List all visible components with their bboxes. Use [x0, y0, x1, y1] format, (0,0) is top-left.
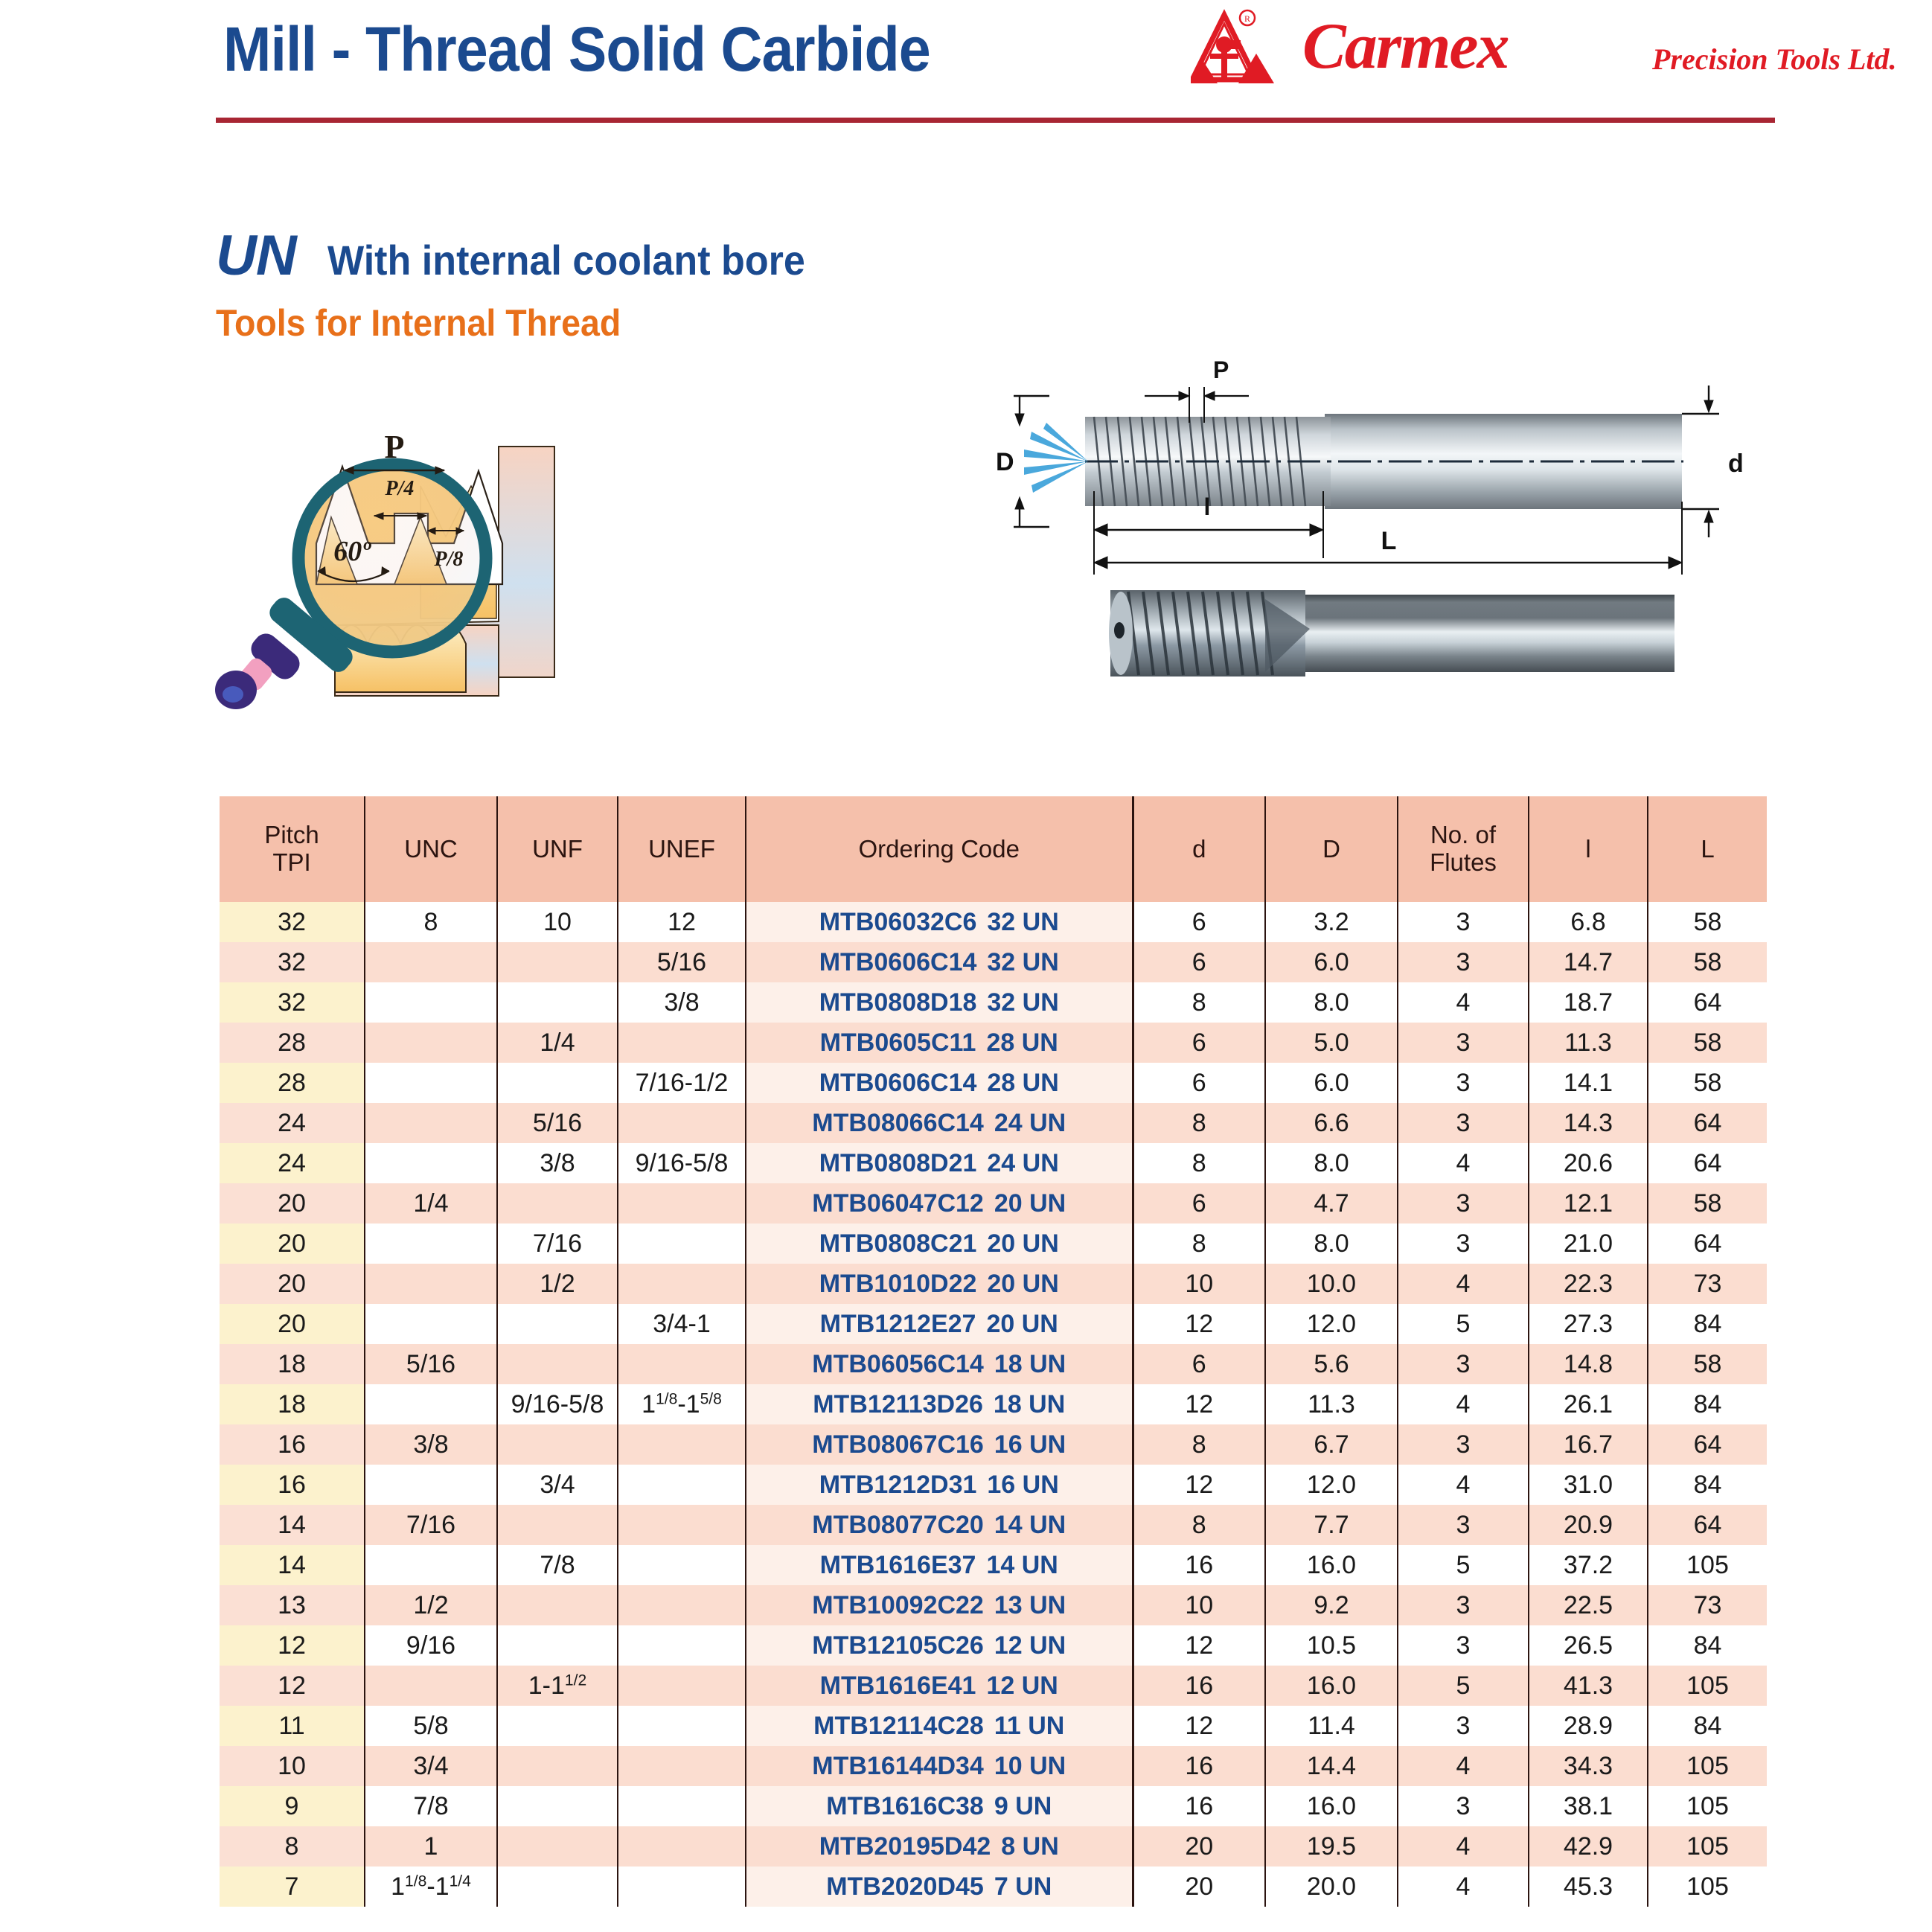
cell-unef	[618, 1625, 746, 1666]
cell-unef	[618, 1183, 746, 1224]
cell-pitch: 18	[220, 1344, 365, 1384]
cell-ordering-code: MTB1010D2220 UN	[746, 1264, 1133, 1304]
ordering-code-suffix: 28 UN	[987, 1069, 1058, 1098]
cell-unc	[365, 1023, 497, 1063]
cell-l: 11.3	[1529, 1023, 1648, 1063]
cell-pitch: 14	[220, 1545, 365, 1585]
cell-ordering-code: MTB08077C2014 UN	[746, 1505, 1133, 1545]
label-P8: P/8	[434, 548, 464, 571]
ordering-code-main: MTB1616C38	[826, 1792, 984, 1821]
cell-unc	[365, 1103, 497, 1143]
cell-ordering-code: MTB0808D2124 UN	[746, 1143, 1133, 1183]
ordering-code-suffix: 12 UN	[986, 1672, 1058, 1701]
cell-flutes: 4	[1398, 982, 1529, 1023]
cell-unef	[618, 1545, 746, 1585]
cell-unef	[618, 1103, 746, 1143]
section-subtitle: UN With internal coolant bore Tools for …	[216, 223, 841, 345]
cell-l: 12.1	[1529, 1183, 1648, 1224]
coolant-spray-icon	[1024, 423, 1088, 493]
cell-D-major: 16.0	[1265, 1666, 1398, 1706]
cell-unef	[618, 1826, 746, 1867]
cell-unc: 11/8-11/4	[365, 1867, 497, 1907]
cell-ordering-code: MTB06032C632 UN	[746, 902, 1133, 942]
cell-flutes: 4	[1398, 1465, 1529, 1505]
ordering-code-main: MTB10092C22	[812, 1591, 984, 1620]
cell-D-major: 6.0	[1265, 942, 1398, 982]
ordering-code-main: MTB16144D34	[812, 1752, 984, 1781]
ordering-code-suffix: 20 UN	[986, 1310, 1058, 1339]
cell-unf	[497, 982, 618, 1023]
ordering-code-suffix: 18 UN	[994, 1350, 1066, 1379]
page-header: Mill - Thread Solid Carbide R Carmex Pre…	[0, 0, 1932, 134]
cell-unef: 9/16-5/8	[618, 1143, 746, 1183]
page-title: Mill - Thread Solid Carbide	[223, 13, 930, 86]
label-P: P	[385, 429, 405, 465]
cell-ordering-code: MTB1616C389 UN	[746, 1786, 1133, 1826]
cell-ordering-code: MTB1616E3714 UN	[746, 1545, 1133, 1585]
tool-dimension-drawing: D d P l L	[975, 342, 1794, 580]
thread-standard-code: UN	[216, 223, 296, 288]
cell-d: 6	[1133, 1023, 1265, 1063]
cell-L: 84	[1648, 1384, 1767, 1424]
cell-L: 64	[1648, 1224, 1767, 1264]
cell-flutes: 3	[1398, 1625, 1529, 1666]
cell-flutes: 4	[1398, 1746, 1529, 1786]
cell-D-major: 4.7	[1265, 1183, 1398, 1224]
cell-d: 8	[1133, 1505, 1265, 1545]
cell-unef: 5/16	[618, 942, 746, 982]
cell-unf	[497, 1505, 618, 1545]
cell-unef	[618, 1746, 746, 1786]
cell-flutes: 4	[1398, 1384, 1529, 1424]
cell-d: 10	[1133, 1585, 1265, 1625]
dimension-d: d	[1682, 386, 1744, 537]
cell-D-major: 3.2	[1265, 902, 1398, 942]
cell-unc	[365, 1264, 497, 1304]
cell-d: 16	[1133, 1666, 1265, 1706]
cell-ordering-code: MTB1212E2720 UN	[746, 1304, 1133, 1344]
dimension-P-tool: P	[1145, 356, 1249, 423]
ordering-code-suffix: 20 UN	[987, 1270, 1058, 1299]
cell-unef: 7/16-1/2	[618, 1063, 746, 1103]
cell-pitch: 20	[220, 1224, 365, 1264]
cell-l: 21.0	[1529, 1224, 1648, 1264]
cell-ordering-code: MTB12105C2612 UN	[746, 1625, 1133, 1666]
cell-d: 16	[1133, 1786, 1265, 1826]
cell-L: 58	[1648, 1063, 1767, 1103]
cell-l: 20.9	[1529, 1505, 1648, 1545]
table-row: 3281012MTB06032C632 UN63.236.858	[220, 902, 1767, 942]
ordering-code-suffix: 28 UN	[986, 1029, 1058, 1058]
cell-ordering-code: MTB06047C1220 UN	[746, 1183, 1133, 1224]
cell-d: 6	[1133, 1344, 1265, 1384]
cell-unc: 3/8	[365, 1424, 497, 1465]
cell-d: 8	[1133, 982, 1265, 1023]
table-row: 203/4-1MTB1212E2720 UN1212.0527.384	[220, 1304, 1767, 1344]
cell-l: 22.3	[1529, 1264, 1648, 1304]
cell-flutes: 3	[1398, 902, 1529, 942]
cell-D-major: 5.0	[1265, 1023, 1398, 1063]
cell-unef	[618, 1344, 746, 1384]
cell-L: 58	[1648, 1344, 1767, 1384]
cell-l: 18.7	[1529, 982, 1648, 1023]
cell-ordering-code: MTB08067C1616 UN	[746, 1424, 1133, 1465]
cell-unf	[497, 942, 618, 982]
cell-flutes: 3	[1398, 1585, 1529, 1625]
cell-pitch: 10	[220, 1746, 365, 1786]
cell-unef: 12	[618, 902, 746, 942]
thread-profile-illustration: P P/4 P/8 60º	[205, 398, 636, 718]
cell-L: 58	[1648, 942, 1767, 982]
photo-coolant-hole	[1114, 622, 1125, 639]
cell-pitch: 28	[220, 1023, 365, 1063]
cell-ordering-code: MTB0808C2120 UN	[746, 1224, 1133, 1264]
cell-ordering-code: MTB10092C2213 UN	[746, 1585, 1133, 1625]
svg-text:R: R	[1244, 13, 1250, 24]
table-row: 201/2MTB1010D2220 UN1010.0422.373	[220, 1264, 1767, 1304]
cell-unf: 7/8	[497, 1545, 618, 1585]
cell-d: 12	[1133, 1384, 1265, 1424]
ordering-code-suffix: 24 UN	[994, 1109, 1066, 1138]
ordering-code-suffix: 20 UN	[987, 1229, 1058, 1258]
cell-unef	[618, 1585, 746, 1625]
cell-pitch: 32	[220, 942, 365, 982]
table-row: 163/4MTB1212D3116 UN1212.0431.084	[220, 1465, 1767, 1505]
cell-unf: 7/16	[497, 1224, 618, 1264]
cell-l: 34.3	[1529, 1746, 1648, 1786]
cell-unf	[497, 1625, 618, 1666]
col-header-flutes-line1: No. of	[1398, 822, 1528, 849]
cell-pitch: 12	[220, 1625, 365, 1666]
cell-L: 105	[1648, 1545, 1767, 1585]
col-header-D: D	[1265, 796, 1398, 902]
cell-D-major: 10.5	[1265, 1625, 1398, 1666]
cell-l: 37.2	[1529, 1545, 1648, 1585]
cell-unc: 8	[365, 902, 497, 942]
ordering-code-main: MTB06047C12	[812, 1189, 984, 1218]
cell-unf	[497, 1746, 618, 1786]
ordering-code-main: MTB20195D42	[819, 1832, 991, 1861]
cell-pitch: 24	[220, 1103, 365, 1143]
subtitle-description: With internal coolant bore	[327, 236, 805, 284]
cell-unef	[618, 1264, 746, 1304]
table-row: 131/2MTB10092C2213 UN109.2322.573	[220, 1585, 1767, 1625]
cell-pitch: 32	[220, 902, 365, 942]
table-row: 189/16-5/811/8-15/8MTB12113D2618 UN1211.…	[220, 1384, 1767, 1424]
col-header-flutes: No. of Flutes	[1398, 796, 1529, 902]
table-row: 245/16MTB08066C1424 UN86.6314.364	[220, 1103, 1767, 1143]
cell-d: 10	[1133, 1264, 1265, 1304]
cell-unc	[365, 1224, 497, 1264]
cell-flutes: 3	[1398, 1023, 1529, 1063]
cell-unf	[497, 1424, 618, 1465]
cell-unef	[618, 1867, 746, 1907]
ordering-code-main: MTB06032C6	[819, 908, 977, 937]
cell-unc: 1	[365, 1826, 497, 1867]
cell-unef	[618, 1786, 746, 1826]
cell-D-major: 7.7	[1265, 1505, 1398, 1545]
cell-flutes: 4	[1398, 1867, 1529, 1907]
cell-l: 14.1	[1529, 1063, 1648, 1103]
cell-l: 22.5	[1529, 1585, 1648, 1625]
cell-unc: 5/16	[365, 1344, 497, 1384]
cell-unf	[497, 1063, 618, 1103]
table-row: 115/8MTB12114C2811 UN1211.4328.984	[220, 1706, 1767, 1746]
cell-d: 12	[1133, 1706, 1265, 1746]
cell-pitch: 28	[220, 1063, 365, 1103]
cell-flutes: 3	[1398, 1424, 1529, 1465]
cell-unc: 7/8	[365, 1786, 497, 1826]
cell-L: 105	[1648, 1666, 1767, 1706]
table-row: 163/8MTB08067C1616 UN86.7316.764	[220, 1424, 1767, 1465]
cell-flutes: 3	[1398, 942, 1529, 982]
cell-D-major: 19.5	[1265, 1826, 1398, 1867]
cell-unc	[365, 1143, 497, 1183]
cell-pitch: 20	[220, 1304, 365, 1344]
table-row: 243/89/16-5/8MTB0808D2124 UN88.0420.664	[220, 1143, 1767, 1183]
cell-l: 45.3	[1529, 1867, 1648, 1907]
ordering-code-suffix: 14 UN	[994, 1511, 1066, 1540]
col-header-unf: UNF	[497, 796, 618, 902]
cell-pitch: 14	[220, 1505, 365, 1545]
cell-unef	[618, 1465, 746, 1505]
dimension-L: L	[1094, 502, 1682, 575]
cell-ordering-code: MTB12113D2618 UN	[746, 1384, 1133, 1424]
cell-unef	[618, 1706, 746, 1746]
cell-L: 73	[1648, 1264, 1767, 1304]
ordering-code-main: MTB0606C14	[819, 1069, 977, 1098]
cell-L: 64	[1648, 1505, 1767, 1545]
cell-unc	[365, 1063, 497, 1103]
cell-unc	[365, 1384, 497, 1424]
cell-flutes: 5	[1398, 1304, 1529, 1344]
cell-l: 42.9	[1529, 1826, 1648, 1867]
table-row: 287/16-1/2MTB0606C1428 UN66.0314.158	[220, 1063, 1767, 1103]
cell-flutes: 3	[1398, 1103, 1529, 1143]
table-row: 281/4MTB0605C1128 UN65.0311.358	[220, 1023, 1767, 1063]
brand-name: Carmex	[1302, 9, 1508, 84]
cell-unc: 3/4	[365, 1746, 497, 1786]
cell-pitch: 18	[220, 1384, 365, 1424]
cell-unf: 3/4	[497, 1465, 618, 1505]
ordering-code-suffix: 16 UN	[987, 1471, 1058, 1500]
table-row: 711/8-11/4MTB2020D457 UN2020.0445.3105	[220, 1867, 1767, 1907]
cell-L: 84	[1648, 1465, 1767, 1505]
ordering-code-suffix: 32 UN	[987, 988, 1058, 1017]
ordering-code-main: MTB1616E37	[820, 1551, 976, 1580]
ordering-code-main: MTB0808D18	[819, 988, 977, 1017]
ordering-code-main: MTB08066C14	[812, 1109, 984, 1138]
cell-L: 64	[1648, 1103, 1767, 1143]
brand-logo: R Carmex Precision Tools Ltd.	[1191, 7, 1779, 89]
ordering-code-suffix: 13 UN	[994, 1591, 1066, 1620]
cell-unc: 9/16	[365, 1625, 497, 1666]
cell-ordering-code: MTB0808D1832 UN	[746, 982, 1133, 1023]
cell-L: 84	[1648, 1304, 1767, 1344]
cell-D-major: 8.0	[1265, 982, 1398, 1023]
cell-D-major: 12.0	[1265, 1304, 1398, 1344]
ordering-code-main: MTB0606C14	[819, 948, 977, 977]
label-60deg: 60º	[333, 536, 371, 567]
cell-D-major: 6.6	[1265, 1103, 1398, 1143]
cell-D-major: 12.0	[1265, 1465, 1398, 1505]
cell-pitch: 11	[220, 1706, 365, 1746]
cell-D-major: 10.0	[1265, 1264, 1398, 1304]
cell-D-major: 8.0	[1265, 1224, 1398, 1264]
tool-product-photo	[1079, 569, 1734, 696]
table-header-row: Pitch TPI UNC UNF UNEF Ordering Code d D…	[220, 796, 1767, 902]
cell-ordering-code: MTB12114C2811 UN	[746, 1706, 1133, 1746]
subtitle-application: Tools for Internal Thread	[216, 301, 797, 345]
cell-ordering-code: MTB2020D457 UN	[746, 1867, 1133, 1907]
specification-table: Pitch TPI UNC UNF UNEF Ordering Code d D…	[220, 796, 1767, 1907]
ordering-code-suffix: 12 UN	[994, 1631, 1066, 1660]
col-header-d: d	[1133, 796, 1265, 902]
cell-L: 105	[1648, 1786, 1767, 1826]
cell-unef: 11/8-15/8	[618, 1384, 746, 1424]
cell-pitch: 20	[220, 1264, 365, 1304]
cell-ordering-code: MTB1616E4112 UN	[746, 1666, 1133, 1706]
table-row: 207/16MTB0808C2120 UN88.0321.064	[220, 1224, 1767, 1264]
cell-d: 12	[1133, 1304, 1265, 1344]
cell-unf	[497, 1304, 618, 1344]
cell-ordering-code: MTB06056C1418 UN	[746, 1344, 1133, 1384]
cell-L: 84	[1648, 1625, 1767, 1666]
cell-unf	[497, 1585, 618, 1625]
cell-D-major: 8.0	[1265, 1143, 1398, 1183]
table-row: 129/16MTB12105C2612 UN1210.5326.584	[220, 1625, 1767, 1666]
ordering-code-main: MTB0808D21	[819, 1149, 977, 1178]
cell-pitch: 16	[220, 1465, 365, 1505]
cell-unef	[618, 1666, 746, 1706]
table-row: 185/16MTB06056C1418 UN65.6314.858	[220, 1344, 1767, 1384]
label-P4: P/4	[385, 477, 415, 500]
label-L: L	[1381, 527, 1397, 555]
cell-unc	[365, 1465, 497, 1505]
ordering-code-suffix: 8 UN	[1001, 1832, 1058, 1861]
ordering-code-main: MTB1212E27	[820, 1310, 976, 1339]
cell-d: 8	[1133, 1143, 1265, 1183]
col-header-ordering-code: Ordering Code	[746, 796, 1133, 902]
ordering-code-main: MTB06056C14	[812, 1350, 984, 1379]
table-row: 147/8MTB1616E3714 UN1616.0537.2105	[220, 1545, 1767, 1585]
cell-d: 20	[1133, 1826, 1265, 1867]
label-D: D	[996, 448, 1014, 476]
label-d: d	[1728, 450, 1744, 478]
cell-d: 8	[1133, 1424, 1265, 1465]
ordering-code-main: MTB08077C20	[812, 1511, 984, 1540]
brand-tagline: Precision Tools Ltd.	[1652, 42, 1897, 77]
col-header-flutes-line2: Flutes	[1398, 849, 1528, 877]
cell-L: 58	[1648, 1183, 1767, 1224]
cell-ordering-code: MTB08066C1424 UN	[746, 1103, 1133, 1143]
cell-unf: 1/2	[497, 1264, 618, 1304]
cell-flutes: 3	[1398, 1183, 1529, 1224]
cell-unc	[365, 1304, 497, 1344]
cell-unf	[497, 1183, 618, 1224]
ordering-code-main: MTB12113D26	[813, 1390, 983, 1419]
cell-unf: 10	[497, 902, 618, 942]
cell-l: 28.9	[1529, 1706, 1648, 1746]
cell-d: 12	[1133, 1625, 1265, 1666]
ordering-code-main: MTB08067C16	[812, 1430, 984, 1459]
label-l: l	[1204, 493, 1211, 520]
carmex-triangle-logo-icon: R	[1191, 9, 1291, 91]
cell-l: 31.0	[1529, 1465, 1648, 1505]
cell-flutes: 3	[1398, 1706, 1529, 1746]
cell-D-major: 9.2	[1265, 1585, 1398, 1625]
specification-table-body: 3281012MTB06032C632 UN63.236.858325/16MT…	[220, 902, 1767, 1907]
cell-L: 105	[1648, 1746, 1767, 1786]
cell-D-major: 16.0	[1265, 1786, 1398, 1826]
ordering-code-main: MTB1010D22	[819, 1270, 977, 1299]
cell-l: 14.3	[1529, 1103, 1648, 1143]
cell-unc: 7/16	[365, 1505, 497, 1545]
cell-l: 41.3	[1529, 1666, 1648, 1706]
cell-l: 38.1	[1529, 1786, 1648, 1826]
cell-unc: 1/4	[365, 1183, 497, 1224]
cell-l: 20.6	[1529, 1143, 1648, 1183]
ordering-code-main: MTB0808C21	[819, 1229, 977, 1258]
ordering-code-suffix: 18 UN	[994, 1390, 1065, 1419]
col-header-l: l	[1529, 796, 1648, 902]
cell-d: 6	[1133, 1063, 1265, 1103]
cell-d: 8	[1133, 1224, 1265, 1264]
cell-flutes: 3	[1398, 1786, 1529, 1826]
cell-d: 12	[1133, 1465, 1265, 1505]
cell-l: 26.1	[1529, 1384, 1648, 1424]
label-P-tool: P	[1213, 356, 1229, 383]
cell-ordering-code: MTB0606C1432 UN	[746, 942, 1133, 982]
cell-unf	[497, 1826, 618, 1867]
cell-flutes: 3	[1398, 1505, 1529, 1545]
cell-pitch: 16	[220, 1424, 365, 1465]
cell-ordering-code: MTB1212D3116 UN	[746, 1465, 1133, 1505]
cell-unc	[365, 982, 497, 1023]
cell-unef: 3/4-1	[618, 1304, 746, 1344]
cell-l: 16.7	[1529, 1424, 1648, 1465]
cell-unc	[365, 1666, 497, 1706]
cell-unc	[365, 1545, 497, 1585]
ordering-code-main: MTB2020D45	[826, 1872, 984, 1901]
cell-flutes: 5	[1398, 1666, 1529, 1706]
ordering-code-suffix: 20 UN	[994, 1189, 1066, 1218]
cell-unf: 1/4	[497, 1023, 618, 1063]
ordering-code-suffix: 32 UN	[987, 948, 1058, 977]
cell-unf	[497, 1344, 618, 1384]
ordering-code-suffix: 9 UN	[994, 1792, 1052, 1821]
cell-unef: 3/8	[618, 982, 746, 1023]
cell-L: 105	[1648, 1867, 1767, 1907]
cell-ordering-code: MTB0605C1128 UN	[746, 1023, 1133, 1063]
col-header-pitch-line2: TPI	[220, 849, 364, 877]
ordering-code-main: MTB12105C26	[812, 1631, 984, 1660]
cell-unc: 5/8	[365, 1706, 497, 1746]
ordering-code-main: MTB0605C11	[820, 1029, 976, 1058]
cell-D-major: 11.4	[1265, 1706, 1398, 1746]
cell-unc	[365, 942, 497, 982]
cell-L: 58	[1648, 1023, 1767, 1063]
cell-flutes: 3	[1398, 1224, 1529, 1264]
cell-flutes: 3	[1398, 1344, 1529, 1384]
cell-D-major: 14.4	[1265, 1746, 1398, 1786]
ordering-code-main: MTB12114C28	[813, 1712, 984, 1741]
dimension-D: D	[996, 396, 1049, 527]
cell-unf	[497, 1867, 618, 1907]
cell-D-major: 6.7	[1265, 1424, 1398, 1465]
cell-L: 73	[1648, 1585, 1767, 1625]
cell-d: 16	[1133, 1545, 1265, 1585]
